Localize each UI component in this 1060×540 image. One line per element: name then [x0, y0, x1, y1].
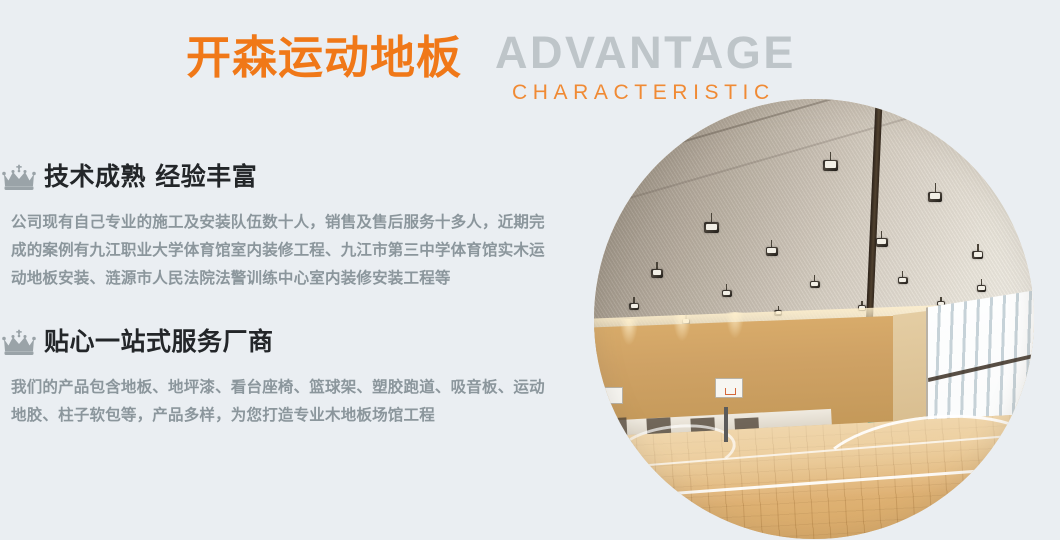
title-english-main: ADVANTAGE	[495, 28, 895, 78]
basketball-hoop-pole	[607, 411, 611, 442]
basketball-backboard	[715, 378, 743, 398]
ceiling-lamp	[823, 152, 838, 171]
wall-spotlight	[620, 319, 638, 345]
feature-item: 技术成熟 经验丰富 公司现有自己专业的施工及安装队伍数十人，销售及售后服务十多人…	[0, 158, 570, 292]
feature-heading-row: 贴心一站式服务厂商	[0, 323, 570, 361]
ceiling-lamp	[629, 297, 639, 310]
wall-spotlight	[673, 315, 691, 341]
feature-body-text: 我们的产品包含地板、地坪漆、看台座椅、篮球架、塑胶跑道、吸音板、运动地胶、柱子软…	[0, 373, 567, 429]
feature-item: 贴心一站式服务厂商 我们的产品包含地板、地坪漆、看台座椅、篮球架、塑胶跑道、吸音…	[0, 323, 570, 429]
gymnasium-photo	[594, 99, 1034, 539]
wall-spotlight	[726, 312, 744, 338]
ceiling-lamp	[876, 231, 888, 247]
feature-heading: 贴心一站式服务厂商	[44, 325, 274, 359]
photo-scene	[594, 99, 1034, 539]
ceiling-lamp	[722, 284, 732, 297]
advantage-banner: 开森运动地板 ADVANTAGE CHARACTERISTIC	[0, 0, 1060, 540]
crown-icon	[2, 164, 36, 191]
ceiling-lamp	[928, 183, 942, 202]
title-chinese: 开森运动地板	[186, 30, 462, 86]
ceiling-lamp	[898, 271, 908, 284]
ceiling-lamp	[766, 240, 778, 256]
ceiling-lamp	[977, 279, 986, 292]
ceiling-lamp	[810, 275, 820, 288]
feature-heading: 技术成熟 经验丰富	[44, 160, 257, 194]
feature-list: 技术成熟 经验丰富 公司现有自己专业的施工及安装队伍数十人，销售及售后服务十多人…	[0, 158, 570, 429]
feature-body-text: 公司现有自己专业的施工及安装队伍数十人，销售及售后服务十多人，近期完成的案例有九…	[0, 208, 567, 292]
ceiling-lamp	[651, 262, 663, 278]
feature-heading-row: 技术成熟 经验丰富	[0, 158, 570, 196]
crown-icon	[2, 329, 36, 356]
ceiling-lamp	[972, 244, 983, 259]
basketball-hoop-pole	[724, 407, 728, 442]
title-english-group: ADVANTAGE CHARACTERISTIC	[495, 28, 895, 107]
basketball-backboard	[599, 387, 623, 404]
ceiling-lamp	[704, 213, 719, 233]
